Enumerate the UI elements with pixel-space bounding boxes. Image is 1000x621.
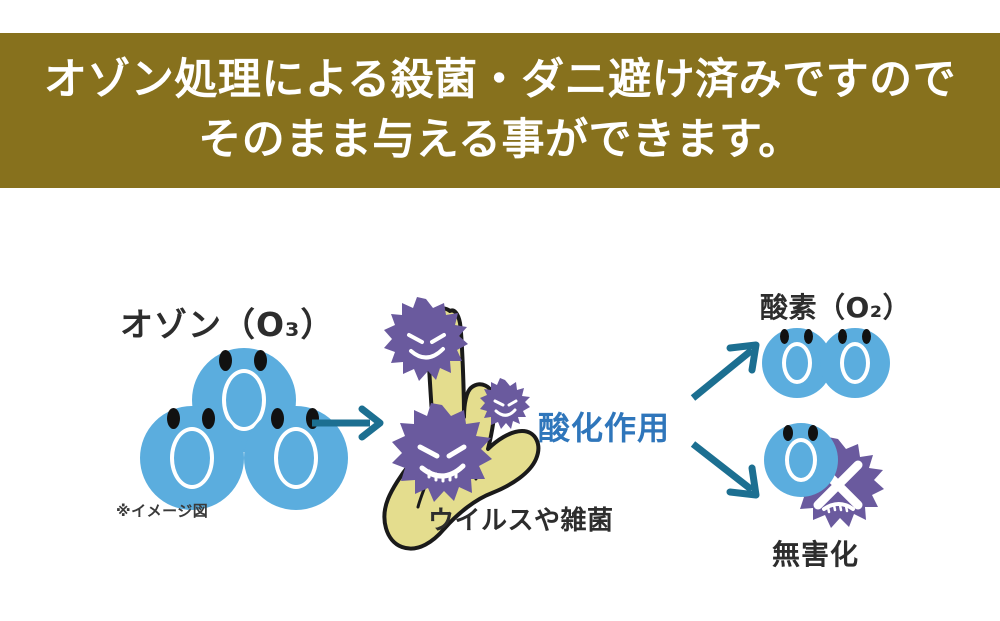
- eye-left-icon: [167, 408, 180, 429]
- virus-and-bacteria-illustration: [380, 293, 560, 593]
- header-banner: オゾン処理による殺菌・ダニ避け済みですので そのまま与える事ができます。: [0, 33, 1000, 188]
- virus-and-bacteria-label: ウイルスや雑菌: [428, 500, 614, 537]
- eye-right-icon: [202, 408, 215, 429]
- ozone-title-label: オゾン（O₃）: [120, 298, 335, 346]
- eye-left-icon: [780, 329, 789, 344]
- eye-right-icon: [804, 329, 813, 344]
- oxidation-effect-label: 酸化作用: [538, 403, 670, 449]
- oxygen-atom-neutralizer: [764, 423, 838, 497]
- banner-line-2: そのまま与える事ができます。: [198, 111, 801, 170]
- ozone-image-note: ※イメージ図: [116, 500, 208, 521]
- oxygen-letter-o-icon: [782, 342, 812, 384]
- oxygen-letter-o-icon: [170, 427, 214, 489]
- harmless-label: 無害化: [772, 533, 859, 573]
- arrow-up-right-icon: [690, 340, 765, 406]
- neutralized-germ-illustration: [760, 423, 910, 533]
- arrow-down-right-icon: [690, 438, 765, 504]
- eye-right-icon: [808, 425, 818, 441]
- ozone-reaction-diagram: オゾン（O₃） ※イメージ図: [0, 188, 1000, 621]
- ozone-atom-left: [140, 406, 244, 510]
- eye-left-icon: [838, 329, 847, 344]
- banner-line-1: オゾン処理による殺菌・ダニ避け済みですので: [44, 51, 956, 110]
- oxygen-letter-o-icon: [785, 438, 817, 482]
- eye-left-icon: [783, 425, 793, 441]
- oxygen-atom-right: [820, 328, 890, 398]
- eye-left-icon: [219, 350, 232, 371]
- oxygen-molecule: [762, 328, 892, 398]
- eye-right-icon: [862, 329, 871, 344]
- eye-right-icon: [254, 350, 267, 371]
- arrow-right-icon: [310, 403, 390, 447]
- oxygen-letter-o-icon: [840, 342, 870, 384]
- eye-left-icon: [271, 408, 284, 429]
- oxygen-title-label: 酸素（O₂）: [760, 286, 911, 326]
